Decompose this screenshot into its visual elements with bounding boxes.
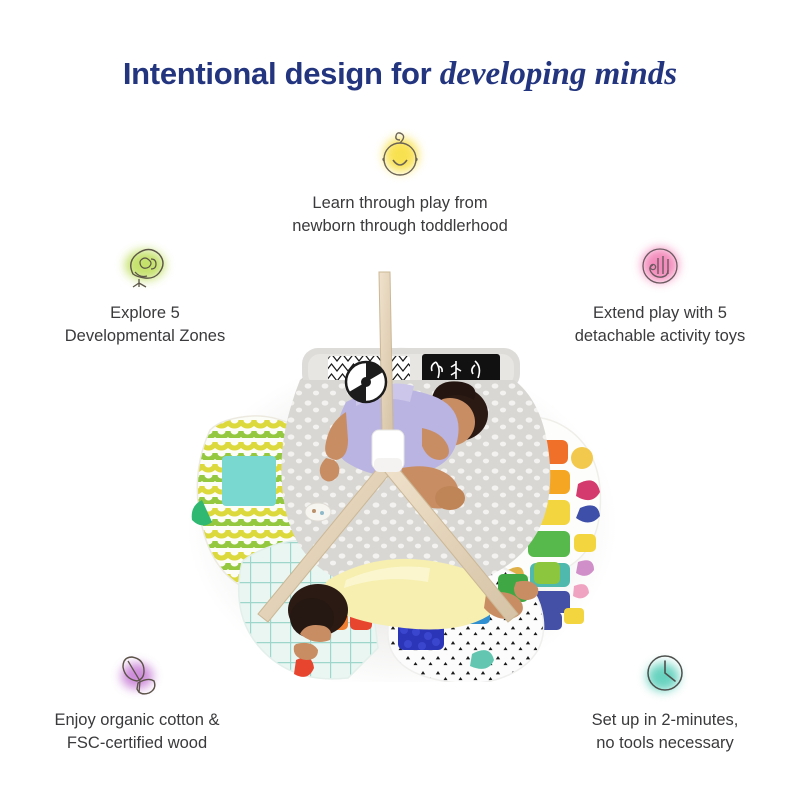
clock-icon — [637, 645, 693, 701]
page-title: Intentional design for developing minds — [0, 56, 800, 93]
feature-label: Extend play with 5 detachable activity t… — [530, 302, 790, 349]
hand-icon — [632, 238, 688, 294]
feature-detachable-toys: Extend play with 5 detachable activity t… — [530, 238, 790, 349]
page-title-emphasis: developing minds — [440, 56, 677, 92]
infographic-page: Intentional design for developing minds — [0, 0, 800, 800]
feature-label: Set up in 2-minutes, no tools necessary — [540, 709, 790, 756]
feature-label: Enjoy organic cotton & FSC-certified woo… — [12, 709, 262, 756]
feature-label: Explore 5 Developmental Zones — [20, 302, 270, 349]
feature-label: Learn through play from newborn through … — [250, 192, 550, 239]
leaf-contrast-panel — [422, 354, 500, 384]
page-title-regular: Intentional design for — [123, 56, 440, 91]
feature-developmental-zones: Explore 5 Developmental Zones — [20, 238, 270, 349]
feature-quick-setup: Set up in 2-minutes, no tools necessary — [540, 645, 790, 756]
teal-square-patch — [222, 456, 276, 506]
brain-head-icon — [117, 238, 173, 294]
leaves-icon — [109, 645, 165, 701]
hanging-plush-toy — [305, 503, 331, 521]
feature-learn-through-play: Learn through play from newborn through … — [250, 128, 550, 239]
black-white-ball-toy — [346, 362, 386, 402]
feature-organic-materials: Enjoy organic cotton & FSC-certified woo… — [12, 645, 262, 756]
baby-head-icon — [372, 128, 428, 184]
